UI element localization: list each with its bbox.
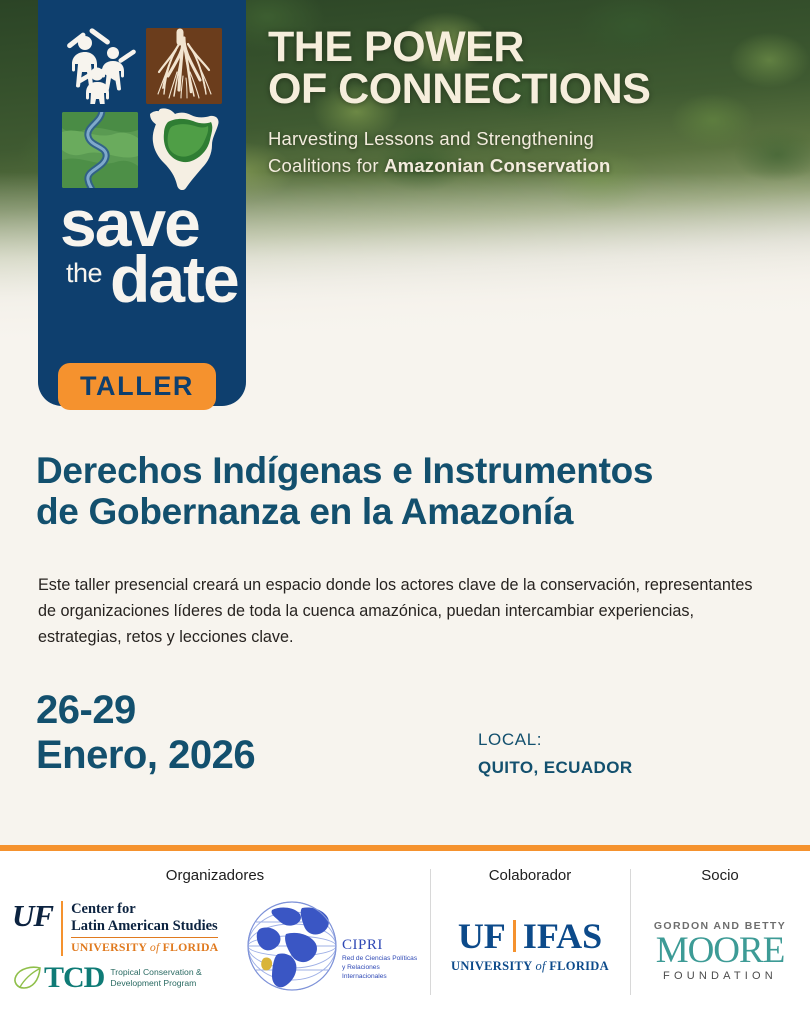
subheadline-line-1: Harvesting Lessons and Strengthening	[268, 128, 594, 149]
event-date-days: 26-29	[36, 688, 255, 733]
globe-icon	[242, 894, 346, 998]
page-title-line-2: de Gobernanza en la Amazonía	[36, 491, 781, 532]
uf-ifas-logo: UF IFAS UNIVERSITY of FLORIDA	[430, 918, 630, 974]
footer-heading-socio: Socio	[630, 867, 810, 884]
moore-wordmark: MOORE	[630, 932, 810, 969]
cipri-tagline-line-1: Red de Ciencias Políticas	[342, 955, 418, 964]
uf-clas-university-c: FLORIDA	[159, 940, 218, 954]
cipri-tagline-line-2: y Relaciones Internacionales	[342, 964, 418, 982]
river-landscape-icon	[62, 112, 138, 188]
cipri-wordmark: CIPRI	[342, 937, 418, 954]
cipri-logo: CIPRI Red de Ciencias Políticas y Relaci…	[242, 894, 418, 998]
uf-ifas-divider-bar	[513, 920, 516, 952]
uf-clas-line-1: Center for	[71, 901, 218, 918]
uf-ifas-uf-mark: UF	[458, 918, 506, 954]
event-date-month-year: Enero, 2026	[36, 733, 255, 778]
tcd-wordmark: TCD	[44, 964, 104, 991]
uf-divider-bar	[61, 901, 63, 956]
footer-heading-colaborador: Colaborador	[430, 867, 630, 884]
headline-block: THE POWER OF CONNECTIONS Harvesting Less…	[268, 26, 788, 180]
event-logo-grid	[62, 28, 224, 188]
tcd-tagline: Tropical Conservation & Development Prog…	[110, 967, 201, 989]
event-location: LOCAL: QUITO, ECUADOR	[478, 730, 633, 778]
tcd-tagline-line-2: Development Program	[110, 978, 201, 989]
uf-latin-american-studies-logo: UF Center for Latin American Studies UNI…	[12, 901, 226, 991]
subheadline: Harvesting Lessons and Strengthening Coa…	[268, 126, 788, 180]
uf-clas-university-line: UNIVERSITY of FLORIDA	[71, 937, 218, 955]
page-title: Derechos Indígenas e Instrumentos de Gob…	[36, 450, 781, 533]
the-word: the	[66, 258, 102, 289]
cipri-tagline: Red de Ciencias Políticas y Relaciones I…	[342, 955, 418, 982]
footer-column-organizadores: Organizadores UF Center for Latin Americ…	[0, 851, 430, 1013]
uf-wordmark: UF	[12, 901, 61, 930]
tree-roots-icon	[146, 28, 222, 104]
footer-column-colaborador: Colaborador UF IFAS UNIVERSITY of FLORID…	[430, 851, 630, 1013]
uf-clas-university-a: UNIVERSITY	[71, 940, 150, 954]
moore-bottom-line: FOUNDATION	[630, 970, 810, 982]
footer-heading-organizadores: Organizadores	[0, 867, 430, 884]
save-the-date-poster: THE POWER OF CONNECTIONS Harvesting Less…	[0, 0, 810, 1013]
save-the-date-panel: save the date	[38, 0, 246, 406]
moore-foundation-logo: GORDON AND BETTY MOORE FOUNDATION	[630, 920, 810, 982]
save-the-date-lockup: save the date	[60, 196, 242, 330]
uf-ifas-university-of: of	[535, 959, 545, 973]
uf-ifas-university-line: UNIVERSITY of FLORIDA	[430, 959, 630, 974]
subheadline-line-2-prefix: Coalitions for	[268, 155, 384, 176]
page-title-line-1: Derechos Indígenas e Instrumentos	[36, 450, 781, 491]
uf-ifas-ifas-mark: IFAS	[523, 918, 602, 954]
footer: Organizadores UF Center for Latin Americ…	[0, 845, 810, 1013]
tcd-tagline-line-1: Tropical Conservation &	[110, 967, 201, 978]
subheadline-line-2-bold: Amazonian Conservation	[384, 155, 610, 176]
taller-badge-label: TALLER	[80, 371, 194, 402]
uf-ifas-university-a: UNIVERSITY	[451, 959, 535, 973]
headline-line-2: OF CONNECTIONS	[268, 68, 788, 110]
headline-line-1: THE POWER	[268, 26, 788, 68]
event-location-label: LOCAL:	[478, 730, 633, 750]
event-date: 26-29 Enero, 2026	[36, 688, 255, 778]
south-america-amazon-map-icon	[142, 106, 226, 190]
taller-badge: TALLER	[58, 363, 216, 410]
footer-column-socio: Socio GORDON AND BETTY MOORE FOUNDATION	[630, 851, 810, 1013]
people-icon	[62, 28, 138, 104]
uf-clas-line-2: Latin American Studies	[71, 918, 218, 935]
uf-ifas-university-c: FLORIDA	[546, 959, 609, 973]
tcd-logo: TCD Tropical Conservation & Development …	[12, 964, 226, 991]
leaf-icon	[12, 965, 42, 991]
event-location-value: QUITO, ECUADOR	[478, 758, 633, 778]
event-description: Este taller presencial creará un espacio…	[38, 572, 773, 651]
date-word: date	[110, 252, 238, 306]
